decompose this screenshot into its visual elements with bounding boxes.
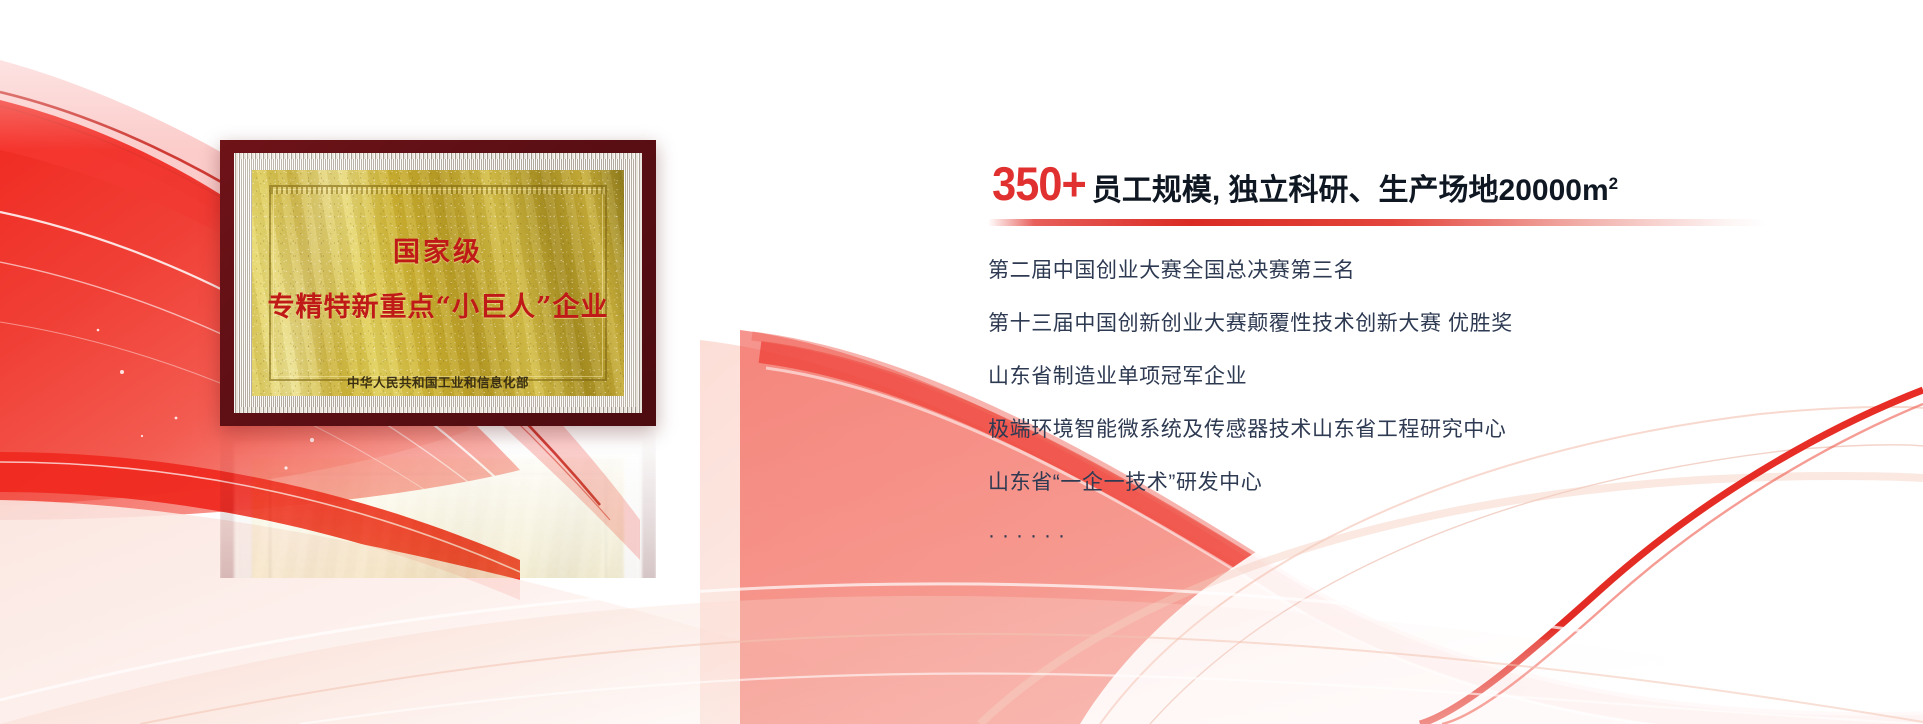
- headline-description-text: 员工规模, 独立科研、生产场地20000m: [1092, 174, 1609, 207]
- plaque-frame: 国家级 专精特新重点“小巨人”企业 中华人民共和国工业和信息化部 2024年12…: [220, 140, 656, 426]
- award-plaque: 国家级 专精特新重点“小巨人”企业 中华人民共和国工业和信息化部 2024年12…: [220, 140, 656, 426]
- plaque-gold-plate: 国家级 专精特新重点“小巨人”企业 中华人民共和国工业和信息化部 2024年12…: [252, 170, 624, 396]
- list-ellipsis: ······: [988, 525, 1888, 546]
- plaque-title-line2: 专精特新重点“小巨人”企业: [267, 285, 608, 324]
- plaque-silver-border: 国家级 专精特新重点“小巨人”企业 中华人民共和国工业和信息化部 2024年12…: [234, 153, 642, 413]
- honors-content: 350+ 员工规模, 独立科研、生产场地20000m2 第二届中国创业大赛全国总…: [988, 160, 1888, 546]
- list-item: 山东省制造业单项冠军企业: [988, 366, 1888, 387]
- plaque-issuer: 中华人民共和国工业和信息化部: [347, 372, 529, 391]
- headline-superscript: 2: [1609, 174, 1618, 193]
- headline-employee-count: 350+: [992, 160, 1086, 207]
- company-honors-banner: 国家级 专精特新重点“小巨人”企业 中华人民共和国工业和信息化部 2024年12…: [0, 0, 1923, 724]
- list-item: 第二届中国创业大赛全国总决赛第三名: [988, 260, 1888, 281]
- list-item: 极端环境智能微系统及传感器技术山东省工程研究中心: [988, 419, 1888, 440]
- list-item: 第十三届中国创新创业大赛颠覆性技术创新大赛 优胜奖: [988, 313, 1888, 334]
- award-list: 第二届中国创业大赛全国总决赛第三名 第十三届中国创新创业大赛颠覆性技术创新大赛 …: [988, 260, 1888, 546]
- headline-description: 员工规模, 独立科研、生产场地20000m2: [1092, 175, 1618, 206]
- plaque-inner-border: 国家级 专精特新重点“小巨人”企业 中华人民共和国工业和信息化部 2024年12…: [240, 159, 636, 407]
- headline-underline: [988, 219, 1766, 226]
- plaque-text-block: 国家级 专精特新重点“小巨人”企业 中华人民共和国工业和信息化部 2024年12…: [252, 170, 624, 396]
- list-item: 山东省“一企一技术”研发中心: [988, 472, 1888, 493]
- headline: 350+ 员工规模, 独立科研、生产场地20000m2: [988, 160, 1888, 207]
- plaque-title-line1: 国家级: [393, 230, 483, 269]
